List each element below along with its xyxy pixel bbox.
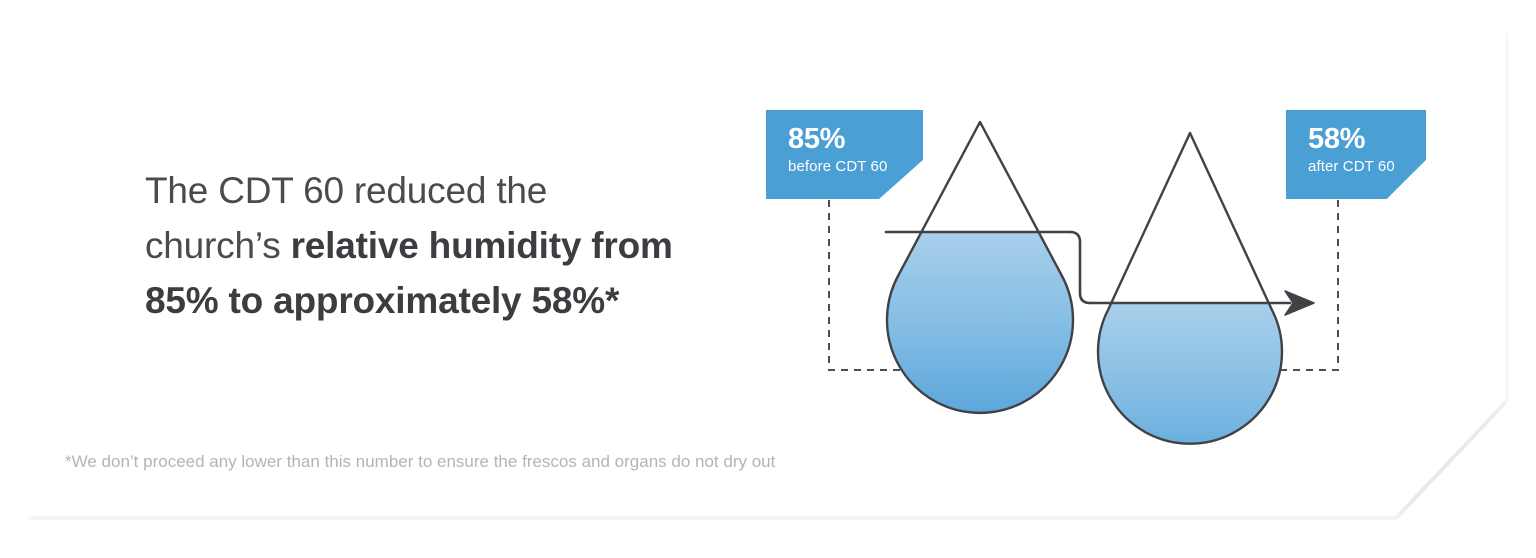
badge-after-label: after CDT 60 <box>1308 156 1426 178</box>
headline-line-1: The CDT 60 reduced the <box>145 170 547 211</box>
infographic-stage: The CDT 60 reduced the church’s relative… <box>0 0 1536 558</box>
badge-before-value: 85% <box>788 123 923 156</box>
page-title: The CDT 60 reduced the church’s relative… <box>145 163 745 328</box>
headline-line-2-regular: church’s <box>145 225 291 266</box>
footnote-text: *We don’t proceed any lower than this nu… <box>65 450 775 474</box>
badge-after-value: 58% <box>1308 123 1426 156</box>
headline-line-2-bold: relative humidity from <box>291 225 673 266</box>
headline-line-3-bold: 85% to approximately 58%* <box>145 280 619 321</box>
badge-before-label: before CDT 60 <box>788 156 923 178</box>
